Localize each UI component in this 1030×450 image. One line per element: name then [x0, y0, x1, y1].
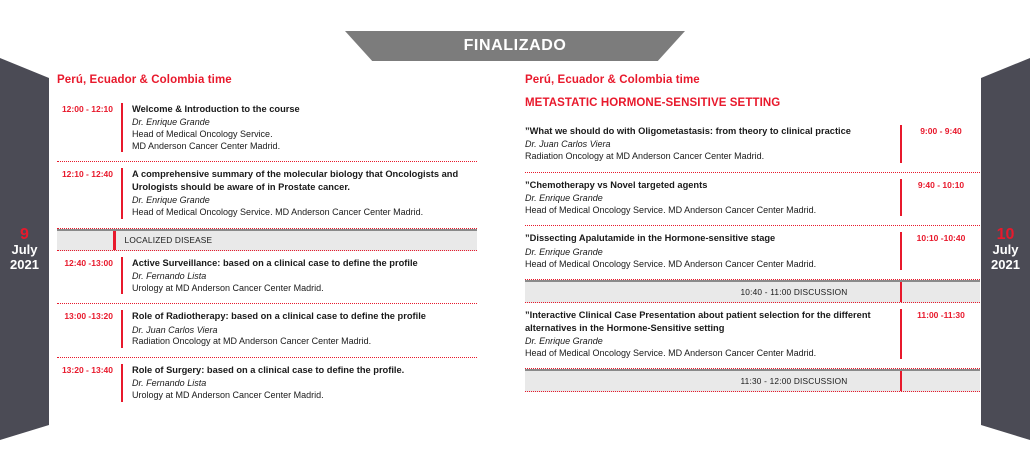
- row-title: Active Surveillance: based on a clinical…: [132, 257, 477, 269]
- row-body: Active Surveillance: based on a clinical…: [121, 257, 477, 295]
- row-affiliation: Head of Medical Oncology Service. MD And…: [132, 207, 477, 219]
- date-tab-month: July: [11, 243, 37, 258]
- row-title: ”Dissecting Apalutamide in the Hormone-s…: [525, 232, 891, 244]
- row-affiliation: Urology at MD Anderson Cancer Center Mad…: [132, 390, 477, 402]
- discussion-band: 11:30 - 12:00 DISCUSSION: [525, 369, 980, 392]
- date-tab-day-number: 9: [20, 226, 29, 244]
- row-body: ”Interactive Clinical Case Presentation …: [525, 309, 902, 359]
- discussion-band-label: 11:30 - 12:00 DISCUSSION: [740, 376, 847, 386]
- row-affiliation: Urology at MD Anderson Cancer Center Mad…: [132, 283, 477, 295]
- agenda-row: 12:00 - 12:10 Welcome & Introduction to …: [57, 97, 477, 162]
- agenda-row: ”What we should do with Oligometastasis:…: [525, 119, 980, 173]
- row-title: ”Chemotherapy vs Novel targeted agents: [525, 179, 891, 191]
- row-body: A comprehensive summary of the molecular…: [121, 168, 477, 218]
- row-body: Role of Surgery: based on a clinical cas…: [121, 364, 477, 402]
- row-time: 13:20 - 13:40: [57, 364, 121, 402]
- row-body: ”Chemotherapy vs Novel targeted agents D…: [525, 179, 902, 217]
- agenda-row: 13:20 - 13:40 Role of Surgery: based on …: [57, 358, 477, 411]
- row-time: 9:40 - 10:10: [902, 179, 980, 217]
- row-affiliation: Head of Medical Oncology Service. MD And…: [525, 205, 891, 217]
- agenda-column-day-one: Perú, Ecuador & Colombia time 12:00 - 12…: [57, 74, 477, 411]
- row-affiliation: Radiation Oncology at MD Anderson Cancer…: [132, 336, 477, 348]
- discussion-band-label: 10:40 - 11:00 DISCUSSION: [740, 287, 847, 297]
- row-affiliation: MD Anderson Cancer Center Madrid.: [132, 141, 477, 153]
- agenda-list-day-two: ”What we should do with Oligometastasis:…: [525, 119, 980, 392]
- row-speaker: Dr. Fernando Lista: [132, 378, 477, 390]
- row-speaker: Dr. Juan Carlos Viera: [525, 139, 891, 151]
- section-band-label: LOCALIZED DISEASE: [116, 235, 213, 245]
- date-tab-year: 2021: [991, 258, 1020, 273]
- row-affiliation: Head of Medical Oncology Service. MD And…: [525, 259, 891, 271]
- band-accent-rule: [900, 282, 903, 302]
- row-time: 11:00 -11:30: [902, 309, 980, 359]
- row-time: 12:40 -13:00: [57, 257, 121, 295]
- discussion-band: 10:40 - 11:00 DISCUSSION: [525, 280, 980, 303]
- status-banner-label: FINALIZADO: [464, 37, 567, 55]
- row-affiliation: Radiation Oncology at MD Anderson Cancer…: [525, 151, 891, 163]
- row-title: Welcome & Introduction to the course: [132, 103, 477, 115]
- row-title: A comprehensive summary of the molecular…: [132, 168, 477, 193]
- row-title: Role of Radiotherapy: based on a clinica…: [132, 310, 477, 322]
- timezone-heading: Perú, Ecuador & Colombia time: [57, 74, 477, 86]
- agenda-list-day-one: 12:00 - 12:10 Welcome & Introduction to …: [57, 97, 477, 411]
- discussion-band-inner: 11:30 - 12:00 DISCUSSION: [525, 371, 900, 391]
- agenda-row: ”Chemotherapy vs Novel targeted agents D…: [525, 173, 980, 227]
- row-affiliation: Head of Medical Oncology Service.: [132, 129, 477, 141]
- row-speaker: Dr. Enrique Grande: [525, 193, 891, 205]
- row-speaker: Dr. Enrique Grande: [132, 117, 477, 129]
- row-speaker: Dr. Enrique Grande: [525, 247, 891, 259]
- date-tab-day-two: 10 July 2021: [981, 58, 1030, 440]
- row-time: 13:00 -13:20: [57, 310, 121, 348]
- section-band-localized-disease: LOCALIZED DISEASE: [57, 229, 477, 251]
- status-banner: FINALIZADO: [345, 31, 685, 61]
- row-title: ”Interactive Clinical Case Presentation …: [525, 309, 891, 334]
- agenda-row: 13:00 -13:20 Role of Radiotherapy: based…: [57, 304, 477, 358]
- row-time: 12:00 - 12:10: [57, 103, 121, 152]
- agenda-row: ”Dissecting Apalutamide in the Hormone-s…: [525, 226, 980, 280]
- discussion-band-inner: 10:40 - 11:00 DISCUSSION: [525, 282, 900, 302]
- agenda-row: 12:10 - 12:40 A comprehensive summary of…: [57, 162, 477, 228]
- row-speaker: Dr. Enrique Grande: [132, 195, 477, 207]
- agenda-row: ”Interactive Clinical Case Presentation …: [525, 303, 980, 369]
- row-time: 10:10 -10:40: [902, 232, 980, 270]
- row-body: ”Dissecting Apalutamide in the Hormone-s…: [525, 232, 902, 270]
- row-title: Role of Surgery: based on a clinical cas…: [132, 364, 477, 376]
- row-body: Role of Radiotherapy: based on a clinica…: [121, 310, 477, 348]
- row-body: ”What we should do with Oligometastasis:…: [525, 125, 902, 163]
- date-tab-month: July: [992, 243, 1018, 258]
- row-time: 12:10 - 12:40: [57, 168, 121, 218]
- band-accent-rule: [900, 371, 903, 391]
- timezone-heading: Perú, Ecuador & Colombia time: [525, 74, 980, 86]
- row-body: Welcome & Introduction to the course Dr.…: [121, 103, 477, 152]
- date-tab-day-one: 9 July 2021: [0, 58, 49, 440]
- row-affiliation: Head of Medical Oncology Service. MD And…: [525, 348, 891, 360]
- agenda-row: 12:40 -13:00 Active Surveillance: based …: [57, 251, 477, 305]
- row-speaker: Dr. Juan Carlos Viera: [132, 325, 477, 337]
- date-tab-year: 2021: [10, 258, 39, 273]
- row-speaker: Dr. Fernando Lista: [132, 271, 477, 283]
- row-speaker: Dr. Enrique Grande: [525, 336, 891, 348]
- row-time: 9:00 - 9:40: [902, 125, 980, 163]
- agenda-column-day-two: Perú, Ecuador & Colombia time METASTATIC…: [525, 74, 980, 392]
- date-tab-day-number: 10: [997, 226, 1015, 244]
- row-title: ”What we should do with Oligometastasis:…: [525, 125, 891, 137]
- section-heading-metastatic: METASTATIC HORMONE-SENSITIVE SETTING: [525, 97, 980, 109]
